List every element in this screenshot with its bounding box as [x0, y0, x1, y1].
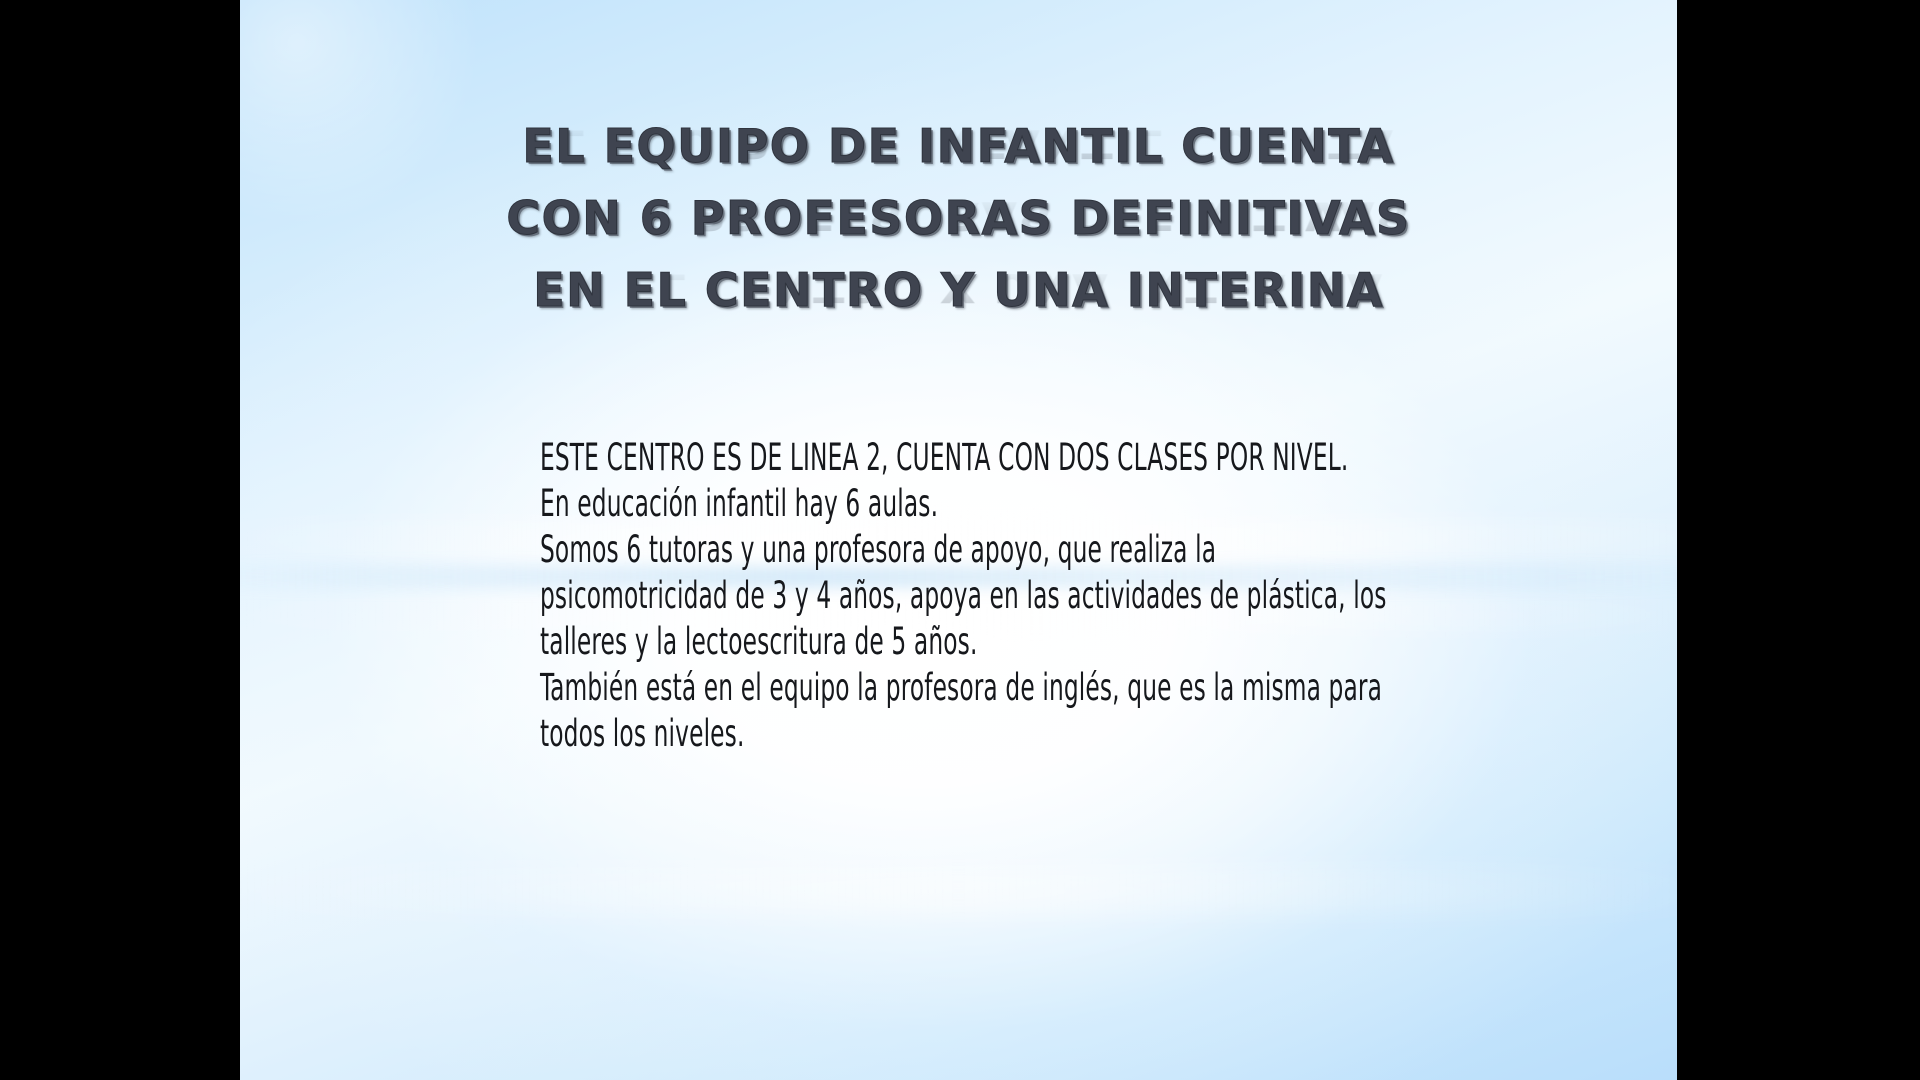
title-line-1: EL EQUIPO DE INFANTIL CUENTA — [240, 118, 1677, 174]
title-line-2: CON 6 PROFESORAS DEFINITIVAS — [240, 190, 1677, 246]
body-line-3: Somos 6 tutoras y una profesora de apoyo… — [540, 527, 1240, 573]
slide-viewer: EL EQUIPO DE INFANTIL CUENTA EL EQUIPO D… — [0, 0, 1920, 1080]
title-line-wrapper-3: EN EL CENTRO Y UNA INTERINA EN EL CENTRO… — [240, 262, 1677, 334]
title-line-wrapper-1: EL EQUIPO DE INFANTIL CUENTA EL EQUIPO D… — [240, 118, 1677, 190]
letterbox-right — [1677, 0, 1920, 1080]
slide-title: EL EQUIPO DE INFANTIL CUENTA EL EQUIPO D… — [240, 118, 1677, 334]
body-line-1: ESTE CENTRO ES DE LINEA 2, CUENTA CON DO… — [540, 435, 1240, 481]
title-line-wrapper-2: CON 6 PROFESORAS DEFINITIVAS CON 6 PROFE… — [240, 190, 1677, 262]
title-line-3: EN EL CENTRO Y UNA INTERINA — [240, 262, 1677, 318]
presentation-slide: EL EQUIPO DE INFANTIL CUENTA EL EQUIPO D… — [240, 0, 1677, 1080]
body-line-2: En educación infantil hay 6 aulas. — [540, 481, 1240, 527]
body-line-4: psicomotricidad de 3 y 4 años, apoya en … — [540, 573, 1240, 619]
background-light-streak-4 — [240, 868, 1677, 914]
slide-body-text: ESTE CENTRO ES DE LINEA 2, CUENTA CON DO… — [540, 435, 1540, 757]
body-line-5: talleres y la lectoescritura de 5 años. — [540, 619, 1240, 665]
letterbox-left — [0, 0, 240, 1080]
body-line-6: También está en el equipo la profesora d… — [540, 665, 1240, 711]
body-line-7: todos los niveles. — [540, 711, 1240, 757]
